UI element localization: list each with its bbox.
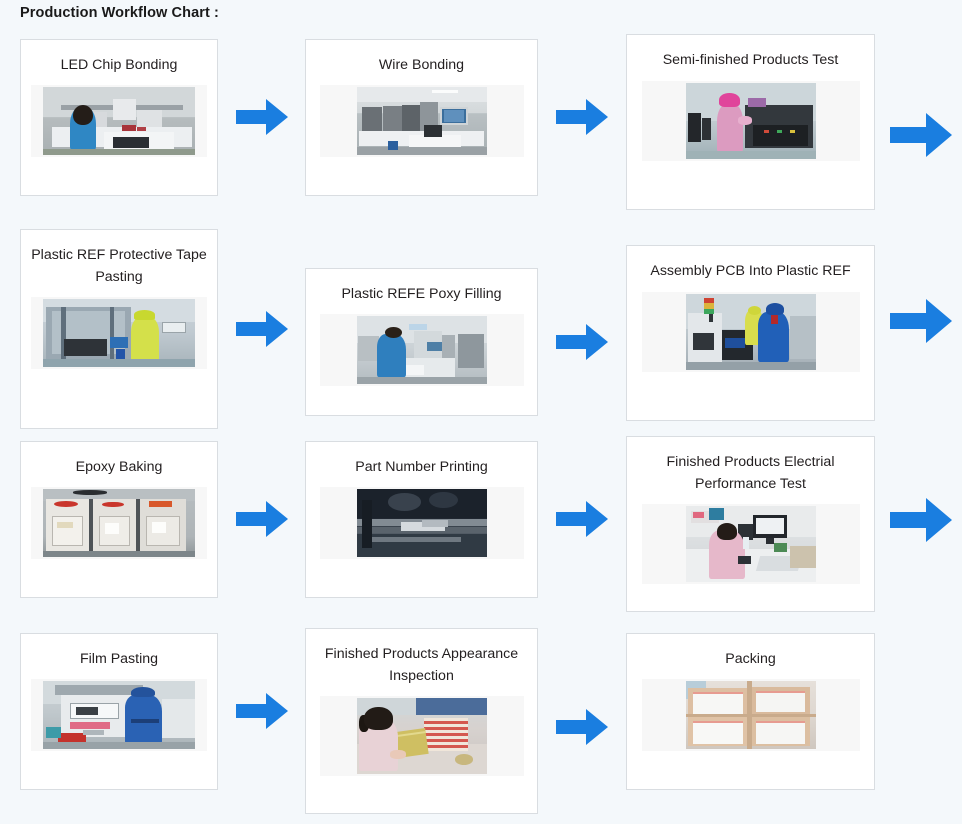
epoxy-baking-photo (43, 489, 195, 557)
workflow-row: Epoxy Baking (0, 434, 962, 626)
finished-products-appearance-inspection-photo (357, 698, 487, 774)
right-arrow-icon (556, 499, 608, 539)
card-title: Plastic REFE Poxy Filling (331, 281, 511, 306)
workflow-row: LED Chip Bonding Wire Bonding (0, 33, 962, 229)
card-title: Wire Bonding (369, 52, 474, 77)
right-arrow-icon (890, 297, 952, 345)
card-image-frame (31, 297, 207, 369)
card-image-frame (320, 696, 524, 776)
card-image-frame (642, 504, 860, 584)
card-title: Finished Products Electrial Performance … (627, 449, 874, 495)
right-arrow-icon (236, 309, 288, 349)
card-title: Film Pasting (70, 646, 168, 671)
workflow-chart: LED Chip Bonding Wire Bonding (0, 33, 962, 821)
workflow-card-packing[interactable]: Packing (626, 633, 875, 790)
card-image-frame (320, 314, 524, 386)
right-arrow-icon (890, 111, 952, 159)
plastic-ref-protective-tape-pasting-photo (43, 299, 195, 367)
right-arrow-icon (236, 691, 288, 731)
workflow-slot: Wire Bonding (302, 33, 622, 201)
workflow-card-wire-bonding[interactable]: Wire Bonding (305, 39, 538, 196)
card-title: Finished Products Appearance Inspection (306, 641, 537, 687)
finished-products-electrial-performance-test-photo (686, 506, 816, 582)
right-arrow-icon (236, 499, 288, 539)
right-arrow-icon (890, 496, 952, 544)
page-title: Production Workflow Chart : (20, 5, 219, 21)
workflow-slot: Plastic REFE Poxy Filling (302, 229, 622, 429)
workflow-row: Film Pasting Finished Products Ap (0, 626, 962, 821)
right-arrow-icon (556, 97, 608, 137)
workflow-card-part-number-printing[interactable]: Part Number Printing (305, 441, 538, 598)
card-image-frame (31, 487, 207, 559)
part-number-printing-photo (357, 489, 487, 557)
assembly-pcb-into-plastic-ref-photo (686, 294, 816, 370)
workflow-row: Plastic REF Protective Tape Pasting (0, 229, 962, 434)
card-title: Assembly PCB Into Plastic REF (640, 258, 860, 283)
workflow-slot: Plastic REF Protective Tape Pasting (0, 229, 302, 429)
workflow-card-film-pasting[interactable]: Film Pasting (20, 633, 218, 790)
workflow-card-assembly-pcb-into-plastic-ref[interactable]: Assembly PCB Into Plastic REF (626, 245, 875, 421)
card-image-frame (642, 679, 860, 751)
right-arrow-icon (556, 707, 608, 747)
workflow-card-finished-products-appearance-inspection[interactable]: Finished Products Appearance Inspection (305, 628, 538, 814)
film-pasting-photo (43, 681, 195, 749)
card-image-frame (642, 81, 860, 161)
card-title: Packing (715, 646, 785, 671)
card-image-frame (320, 487, 524, 559)
card-title: Semi-finished Products Test (653, 47, 849, 72)
plastic-refe-poxy-filling-photo (357, 316, 487, 384)
card-title: LED Chip Bonding (51, 52, 188, 77)
workflow-card-epoxy-baking[interactable]: Epoxy Baking (20, 441, 218, 598)
card-image-frame (642, 292, 860, 372)
right-arrow-icon (556, 322, 608, 362)
card-title: Part Number Printing (345, 454, 497, 479)
packing-photo (686, 681, 816, 749)
led-chip-bonding-photo (43, 87, 195, 155)
right-arrow-icon (236, 97, 288, 137)
workflow-card-plastic-ref-protective-tape-pasting[interactable]: Plastic REF Protective Tape Pasting (20, 229, 218, 429)
card-image-frame (320, 85, 524, 157)
card-title: Plastic REF Protective Tape Pasting (21, 242, 217, 288)
workflow-slot: Film Pasting (0, 626, 302, 796)
workflow-slot: Epoxy Baking (0, 434, 302, 604)
workflow-slot: Packing (622, 626, 962, 796)
workflow-slot: LED Chip Bonding (0, 33, 302, 201)
workflow-card-finished-products-electrial-performance-test[interactable]: Finished Products Electrial Performance … (626, 436, 875, 612)
card-image-frame (31, 679, 207, 751)
workflow-card-semi-finished-products-test[interactable]: Semi-finished Products Test (626, 34, 875, 210)
semi-finished-products-test-photo (686, 83, 816, 159)
workflow-slot: Finished Products Appearance Inspection (302, 626, 622, 816)
workflow-slot: Part Number Printing (302, 434, 622, 604)
card-title: Epoxy Baking (66, 454, 173, 479)
workflow-card-plastic-refe-poxy-filling[interactable]: Plastic REFE Poxy Filling (305, 268, 538, 416)
workflow-card-led-chip-bonding[interactable]: LED Chip Bonding (20, 39, 218, 196)
card-image-frame (31, 85, 207, 157)
wire-bonding-photo (357, 87, 487, 155)
